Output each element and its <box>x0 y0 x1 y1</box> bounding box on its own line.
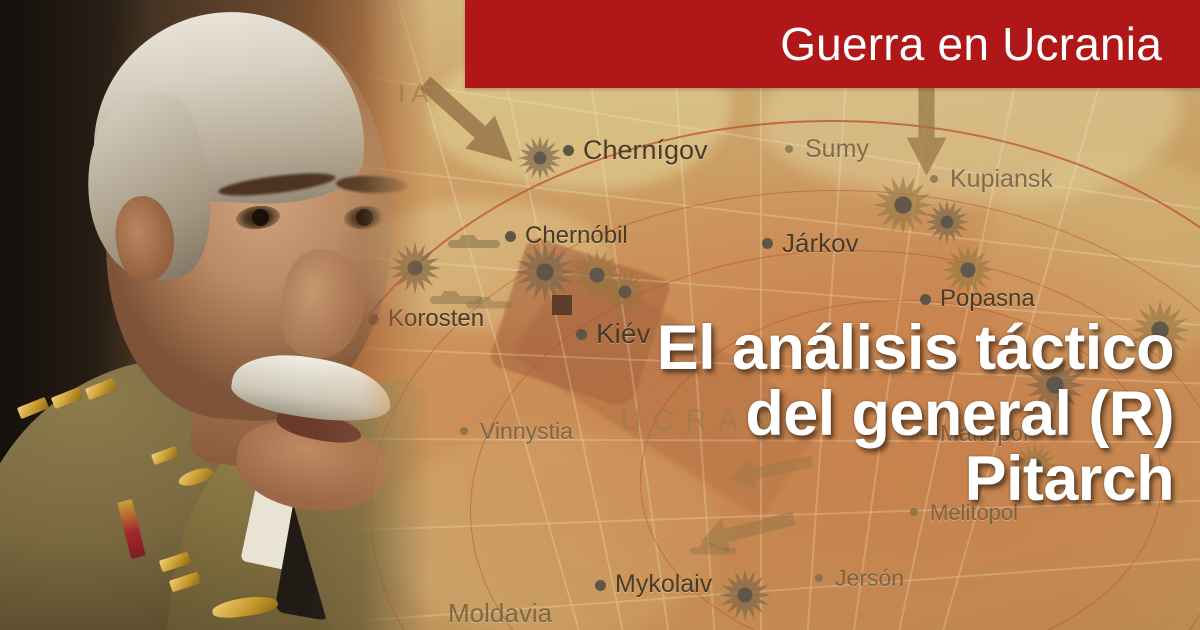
pupil-right <box>356 209 373 226</box>
city-label-kupiansk: Kupiansk <box>950 165 1053 194</box>
headline-line-2: del general (R) <box>364 382 1174 448</box>
pupil-left <box>252 209 269 226</box>
city-label-j-rkov: Járkov <box>782 228 859 259</box>
tank-icon-north <box>448 232 500 259</box>
blast-marker <box>941 243 995 297</box>
city-label-jers-n: Jersón <box>835 565 904 592</box>
city-label-mykolaiv: Mykolaiv <box>615 570 712 599</box>
city-dot-popasna <box>920 294 931 305</box>
blast-marker <box>718 568 772 622</box>
blast-marker <box>514 241 576 303</box>
city-dot-j-rkov <box>762 238 773 249</box>
headline-line-1: El análisis táctico <box>364 316 1174 382</box>
south-advance-arrow <box>899 82 950 178</box>
city-label-chern-gov: Chernígov <box>583 135 708 166</box>
city-dot-chern-gov <box>563 145 574 156</box>
city-dot-mykolaiv <box>595 580 606 591</box>
city-dot-sumy <box>785 145 793 153</box>
section-banner: Guerra en Ucrania <box>465 0 1200 88</box>
city-label-moldavia: Moldavia <box>448 598 552 629</box>
blast-marker <box>924 199 970 245</box>
headline-line-3: Pitarch <box>364 447 1174 513</box>
tank-icon-south <box>690 540 736 565</box>
capital-marker-kyiv <box>552 295 572 315</box>
social-share-card: ChernígovSumyKupianskChernóbilJárkovPopa… <box>0 0 1200 630</box>
headline: El análisis táctico del general (R) Pita… <box>364 316 1174 513</box>
blast-marker <box>602 269 648 315</box>
section-banner-label: Guerra en Ucrania <box>780 21 1200 67</box>
portrait-general-pitarch <box>0 0 430 630</box>
city-label-sumy: Sumy <box>805 135 869 164</box>
city-dot-jers-n <box>815 574 823 582</box>
